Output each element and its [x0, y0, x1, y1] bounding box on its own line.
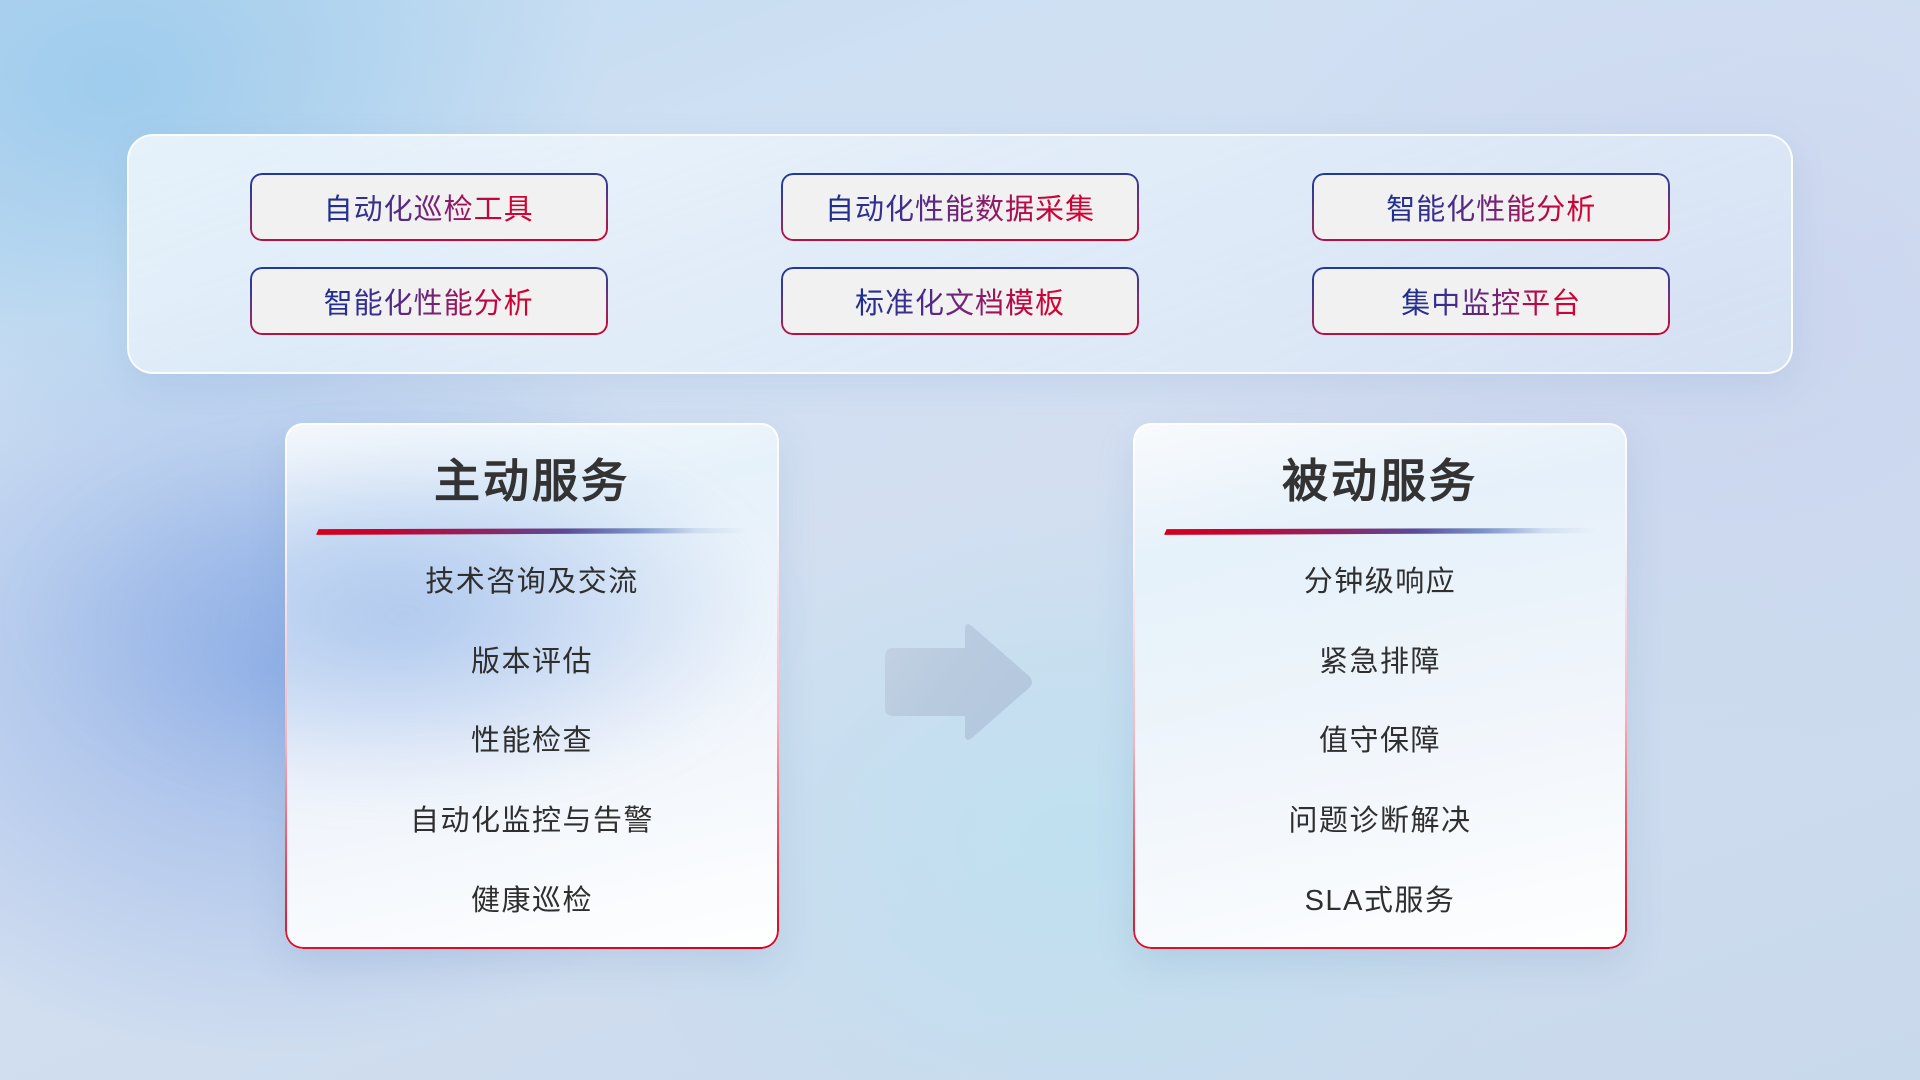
list-item: 紧急排障	[1319, 641, 1441, 684]
list-item: 健康巡检	[471, 880, 593, 923]
capability-column-2: 自动化性能数据采集 标准化文档模板	[781, 173, 1139, 335]
service-card-reactive: 被动服务 分钟级响应 紧急排障 值守保障 问题诊断解决 SLA式服务	[1133, 423, 1627, 949]
card-divider	[1164, 528, 1596, 535]
list-item: 版本评估	[471, 641, 593, 684]
capability-chip-label: 智能化性能分析	[324, 280, 534, 322]
card-title: 主动服务	[434, 455, 630, 508]
list-item: 自动化监控与告警	[410, 800, 654, 843]
service-card-proactive: 主动服务 技术咨询及交流 版本评估 性能检查 自动化监控与告警 健康巡检	[285, 423, 779, 949]
capability-column-3: 智能化性能分析 集中监控平台	[1312, 173, 1670, 335]
capability-chip-label: 标准化文档模板	[855, 280, 1065, 322]
service-item-list: 分钟级响应 紧急排障 值守保障 问题诊断解决 SLA式服务	[1133, 561, 1627, 923]
list-item: 问题诊断解决	[1288, 800, 1471, 843]
capability-chip[interactable]: 标准化文档模板	[781, 267, 1139, 335]
slide-canvas: 自动化巡检工具 智能化性能分析 自动化性能数据采集 标准化文档模板 智能化性能分…	[0, 0, 1920, 1080]
capability-chip-label: 智能化性能分析	[1386, 186, 1596, 228]
list-item: SLA式服务	[1305, 880, 1456, 923]
capability-chip[interactable]: 集中监控平台	[1312, 267, 1670, 335]
service-item-list: 技术咨询及交流 版本评估 性能检查 自动化监控与告警 健康巡检	[285, 561, 779, 923]
capability-chip-label: 自动化性能数据采集	[825, 186, 1095, 228]
list-item: 值守保障	[1319, 720, 1441, 763]
card-title: 被动服务	[1282, 455, 1478, 508]
list-item: 技术咨询及交流	[425, 561, 639, 604]
list-item: 性能检查	[471, 720, 593, 763]
capability-chip[interactable]: 智能化性能分析	[1312, 173, 1670, 241]
capabilities-panel: 自动化巡检工具 智能化性能分析 自动化性能数据采集 标准化文档模板 智能化性能分…	[127, 134, 1793, 374]
right-arrow-icon	[875, 620, 1035, 740]
capability-chip-label: 自动化巡检工具	[324, 186, 534, 228]
list-item: 分钟级响应	[1304, 561, 1457, 604]
capability-chip[interactable]: 自动化性能数据采集	[781, 173, 1139, 241]
card-divider	[316, 528, 748, 535]
capability-chip-label: 集中监控平台	[1401, 280, 1581, 322]
flow-arrow	[875, 620, 1035, 740]
capability-chip[interactable]: 智能化性能分析	[250, 267, 608, 335]
capability-column-1: 自动化巡检工具 智能化性能分析	[250, 173, 608, 335]
capability-chip[interactable]: 自动化巡检工具	[250, 173, 608, 241]
